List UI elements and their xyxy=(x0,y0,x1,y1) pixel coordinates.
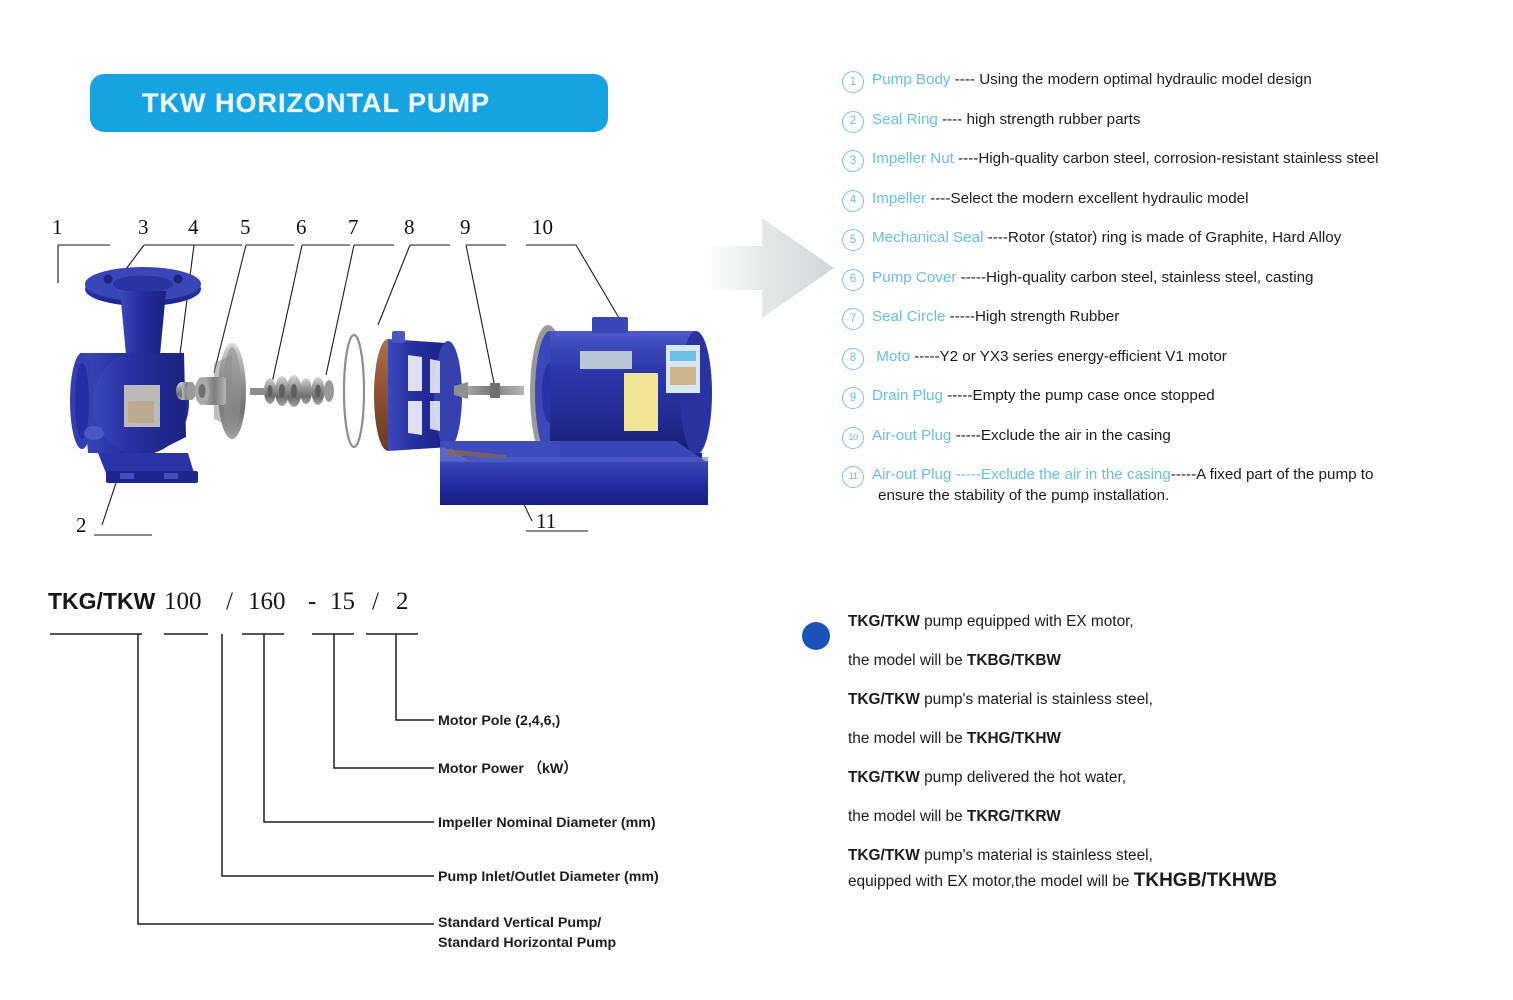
legend-sep-8: ----- xyxy=(910,348,940,365)
legend-item-10: 10 Air-out Plug -----Exclude the air in … xyxy=(842,426,1502,449)
callout-4: 4 xyxy=(188,215,199,240)
note-line-3: TKG/TKW pump's material is stainless ste… xyxy=(848,692,1442,709)
base-plate-part xyxy=(440,441,708,505)
legend-item-8: 8 Moto -----Y2 or YX3 series energy-effi… xyxy=(842,347,1502,370)
legend-desc-1: Using the modern optimal hydraulic model… xyxy=(979,71,1312,88)
legend-number-9: 9 xyxy=(842,387,864,409)
note-1-text: pump equipped with EX motor, xyxy=(920,613,1134,630)
legend-text-10: Air-out Plug -----Exclude the air in the… xyxy=(872,426,1502,445)
model-leader-lines xyxy=(36,588,736,968)
legend-desc-9: Empty the pump case once stopped xyxy=(972,387,1214,404)
page-title: TKW HORIZONTAL PUMP xyxy=(90,88,490,119)
note-3-text: pump's material is stainless steel, xyxy=(920,691,1153,708)
legend-sep-11: ----- xyxy=(951,466,981,483)
note-line-4: the model will be TKHG/TKHW xyxy=(848,731,1442,748)
legend-part-name-4: Impeller xyxy=(872,190,926,207)
model-label-motor-pole: Motor Pole (2,4,6,) xyxy=(438,712,560,731)
legend-desc-3: High-quality carbon steel, corrosion-res… xyxy=(978,150,1378,167)
legend-text-8: Moto -----Y2 or YX3 series energy-effici… xyxy=(872,347,1502,366)
note-4-strong: TKHG/TKHW xyxy=(967,730,1061,747)
legend-part-name-7: Seal Circle xyxy=(872,308,945,325)
legend-part-name-9: Drain Plug xyxy=(872,387,943,404)
legend-item-3: 3 Impeller Nut ----High-quality carbon s… xyxy=(842,149,1502,172)
legend-sep-5: ---- xyxy=(983,229,1007,246)
note-line-8: equipped with EX motor,the model will be… xyxy=(848,871,1442,892)
callout-1: 1 xyxy=(52,215,63,240)
impeller-part xyxy=(195,343,246,439)
legend-item-7: 7 Seal Circle -----High strength Rubber xyxy=(842,307,1502,330)
note-2-strong: TKBG/TKBW xyxy=(967,652,1061,669)
legend-number-4: 4 xyxy=(842,190,864,212)
legend-number-10: 10 xyxy=(842,427,864,449)
parts-legend: 1 Pump Body ---- Using the modern optima… xyxy=(842,70,1502,522)
legend-part-name-5: Mechanical Seal xyxy=(872,229,983,246)
flow-arrow xyxy=(700,212,840,324)
legend-desc-4: Select the modern excellent hydraulic mo… xyxy=(950,190,1248,207)
legend-text-9: Drain Plug -----Empty the pump case once… xyxy=(872,386,1502,405)
legend-part-name-11: Air-out Plug xyxy=(872,466,951,483)
model-label-motor-power: Motor Power （kW） xyxy=(438,760,578,779)
notes-lines: TKG/TKW pump equipped with EX motor, the… xyxy=(848,614,1442,891)
callout-5: 5 xyxy=(240,215,251,240)
note-line-7: TKG/TKW pump's material is stainless ste… xyxy=(848,848,1442,865)
callout-2: 2 xyxy=(76,513,87,538)
legend-part-name-6: Pump Cover xyxy=(872,269,956,286)
impeller-nut-part xyxy=(176,382,196,400)
note-5-text: pump delivered the hot water, xyxy=(920,769,1126,786)
bullet-dot-icon xyxy=(802,622,830,650)
legend-sep-1: ---- xyxy=(951,71,980,88)
legend-number-2: 2 xyxy=(842,111,864,133)
note-line-1: TKG/TKW pump equipped with EX motor, xyxy=(848,614,1442,631)
note-7-text: pump's material is stainless steel, xyxy=(920,847,1153,864)
legend-sep-7: ----- xyxy=(945,308,975,325)
legend-text-4: Impeller ----Select the modern excellent… xyxy=(872,189,1502,208)
note-8-text: equipped with EX motor,the model will be xyxy=(848,873,1134,890)
callout-7: 7 xyxy=(348,215,359,240)
callout-3: 3 xyxy=(138,215,149,240)
note-1-strong: TKG/TKW xyxy=(848,613,920,630)
legend-desc-blue-11: Exclude the air in the casing xyxy=(981,466,1171,483)
callout-11: 11 xyxy=(536,509,556,534)
callout-8: 8 xyxy=(404,215,415,240)
callout-6: 6 xyxy=(296,215,307,240)
motor-shaft xyxy=(454,382,524,399)
note-6-text: the model will be xyxy=(848,808,967,825)
callout-10: 10 xyxy=(532,215,553,240)
legend-desc-2: high strength rubber parts xyxy=(967,111,1141,128)
model-label-standard-vert: Standard Vertical Pump/ xyxy=(438,914,601,933)
note-line-6: the model will be TKRG/TKRW xyxy=(848,809,1442,826)
right-arrow-icon xyxy=(700,212,840,324)
model-label-standard-horiz: Standard Horizontal Pump xyxy=(438,934,616,953)
model-label-impeller-dia: Impeller Nominal Diameter (mm) xyxy=(438,814,656,833)
model-label-inlet-outlet: Pump Inlet/Outlet Diameter (mm) xyxy=(438,868,659,887)
legend-number-11: 11 xyxy=(842,466,864,488)
note-8-strong: TKHGB/TKHWB xyxy=(1134,870,1278,891)
legend-number-3: 3 xyxy=(842,150,864,172)
legend-desc-10: Exclude the air in the casing xyxy=(981,427,1171,444)
legend-sep-3: ---- xyxy=(954,150,978,167)
model-variants-notes: TKG/TKW pump equipped with EX motor, the… xyxy=(802,614,1442,913)
legend-desc-8: Y2 or YX3 series energy-efficient V1 mot… xyxy=(940,348,1227,365)
exploded-pump-diagram: 1 3 4 5 6 7 8 9 10 2 11 xyxy=(36,205,726,565)
note-6-strong: TKRG/TKRW xyxy=(967,808,1061,825)
legend-item-4: 4 Impeller ----Select the modern excelle… xyxy=(842,189,1502,212)
note-3-strong: TKG/TKW xyxy=(848,691,920,708)
legend-desc-5: Rotor (stator) ring is made of Graphite,… xyxy=(1008,229,1341,246)
legend-number-5: 5 xyxy=(842,229,864,251)
seal-circle-part xyxy=(344,335,364,447)
note-line-5: TKG/TKW pump delivered the hot water, xyxy=(848,770,1442,787)
legend-part-name-2: Seal Ring xyxy=(872,111,938,128)
legend-text-5: Mechanical Seal ----Rotor (stator) ring … xyxy=(872,228,1502,247)
legend-text-3: Impeller Nut ----High-quality carbon ste… xyxy=(872,149,1502,168)
note-5-strong: TKG/TKW xyxy=(848,769,920,786)
legend-number-7: 7 xyxy=(842,308,864,330)
legend-number-8: 8 xyxy=(842,348,864,370)
legend-sep2-11: ----- xyxy=(1171,466,1196,483)
legend-text-2: Seal Ring ---- high strength rubber part… xyxy=(872,110,1502,129)
note-2-text: the model will be xyxy=(848,652,967,669)
legend-part-name-1: Pump Body xyxy=(872,71,951,88)
legend-continuation-11: ensure the stability of the pump install… xyxy=(872,486,1502,505)
legend-item-6: 6 Pump Cover -----High-quality carbon st… xyxy=(842,268,1502,291)
legend-item-9: 9 Drain Plug -----Empty the pump case on… xyxy=(842,386,1502,409)
callout-9: 9 xyxy=(460,215,471,240)
legend-text-11: Air-out Plug -----Exclude the air in the… xyxy=(872,465,1502,505)
legend-part-name-10: Air-out Plug xyxy=(872,427,951,444)
legend-desc-6: High-quality carbon steel, stainless ste… xyxy=(986,269,1314,286)
legend-sep-10: ----- xyxy=(951,427,981,444)
legend-item-2: 2 Seal Ring ---- high strength rubber pa… xyxy=(842,110,1502,133)
model-code-breakdown: TKG/TKW 100 / 160 - 15 / 2 Motor Pol xyxy=(36,588,736,968)
legend-desc-11: A fixed part of the pump to xyxy=(1196,466,1373,483)
legend-part-name-3: Impeller Nut xyxy=(872,150,954,167)
note-line-2: the model will be TKBG/TKBW xyxy=(848,653,1442,670)
legend-part-name-8: Moto xyxy=(876,348,910,365)
page-title-banner: TKW HORIZONTAL PUMP xyxy=(90,74,608,132)
legend-item-1: 1 Pump Body ---- Using the modern optima… xyxy=(842,70,1502,93)
note-4-text: the model will be xyxy=(848,730,967,747)
legend-number-6: 6 xyxy=(842,269,864,291)
legend-text-6: Pump Cover -----High-quality carbon stee… xyxy=(872,268,1502,287)
pump-body-part xyxy=(70,267,201,483)
legend-item-5: 5 Mechanical Seal ----Rotor (stator) rin… xyxy=(842,228,1502,251)
legend-sep-9: ----- xyxy=(943,387,973,404)
mechanical-seal-part xyxy=(250,375,334,407)
legend-text-1: Pump Body ---- Using the modern optimal … xyxy=(872,70,1502,89)
note-7-strong: TKG/TKW xyxy=(848,847,920,864)
legend-sep-2: ---- xyxy=(938,111,967,128)
legend-number-1: 1 xyxy=(842,71,864,93)
pump-cover-part xyxy=(374,331,462,451)
legend-sep-4: ---- xyxy=(926,190,950,207)
legend-desc-7: High strength Rubber xyxy=(975,308,1119,325)
legend-sep-6: ----- xyxy=(956,269,986,286)
legend-item-11: 11 Air-out Plug -----Exclude the air in … xyxy=(842,465,1502,505)
pump-illustration xyxy=(36,205,726,565)
legend-text-7: Seal Circle -----High strength Rubber xyxy=(872,307,1502,326)
